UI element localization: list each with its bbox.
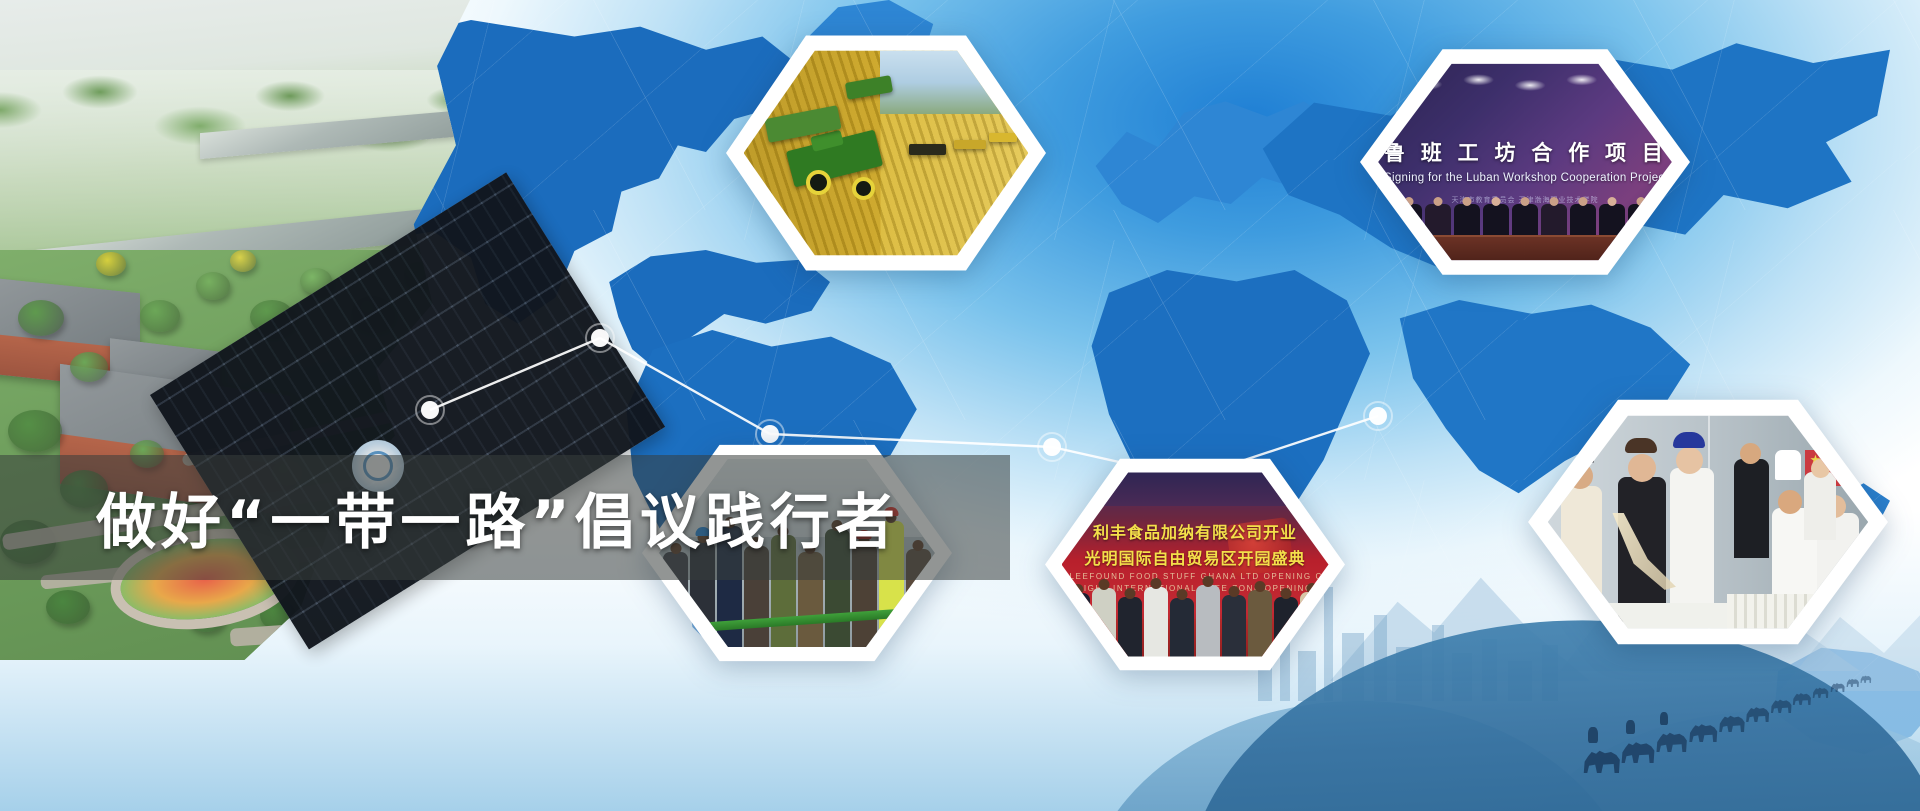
campus-tree: [96, 252, 126, 276]
stage-spotlights: [1396, 66, 1654, 112]
guest: [1300, 592, 1324, 663]
guest: [1196, 585, 1220, 662]
signing-table: [1390, 235, 1660, 266]
campus-tree: [18, 300, 64, 336]
page-title: 做好“一带一路”倡议践行者: [96, 474, 900, 561]
hexagon-white-frame: 利丰食品加纳有限公司开业 光明国际自由贸易区开园盛典 LEEFOUND FOOD…: [1045, 452, 1345, 677]
hexagon-photo-factory-opening[interactable]: 利丰食品加纳有限公司开业 光明国际自由贸易区开园盛典 LEEFOUND FOOD…: [1045, 452, 1345, 677]
hexagon-photo-clip: [1548, 409, 1868, 635]
factory-banner-chinese-line1: 利丰食品加纳有限公司开业: [1070, 519, 1321, 543]
caravan-rider-silhouette: [1660, 712, 1668, 725]
dumpling-tray: [1727, 594, 1868, 635]
caravan-rider-silhouette: [1626, 720, 1635, 734]
guest: [1092, 588, 1116, 662]
guest: [1170, 598, 1194, 662]
campus-tree: [8, 410, 62, 452]
luban-banner-chinese: 鲁 班 工 坊 合 作 项 目 签 约 仪 式: [1384, 137, 1666, 167]
harvester-distant-2: [954, 140, 985, 149]
title-banner: 做好“一带一路”倡议践行者: [0, 455, 1010, 580]
campus-tree: [140, 300, 180, 332]
guest: [1118, 597, 1142, 663]
staff-head: [1740, 443, 1761, 464]
hexagon-photo-harvest[interactable]: [726, 28, 1046, 278]
kitchen-staff: [1734, 459, 1769, 559]
trainee-chef-3: [1804, 472, 1836, 540]
campus-tree: [196, 272, 230, 300]
delegate: [1396, 204, 1422, 246]
hexagon-photo-culinary-exchange[interactable]: [1528, 392, 1888, 652]
banner-stage: 鲁 班 工 坊 合 作 项 目 签 约 仪 式 Signing for the …: [0, 0, 1920, 811]
hexagon-photo-clip: 鲁 班 工 坊 合 作 项 目 签 约 仪 式 Signing for the …: [1378, 58, 1672, 267]
factory-banner-chinese-line2: 光明国际自由贸易区开园盛典: [1070, 545, 1321, 569]
hexagon-photo-clip: [744, 44, 1029, 262]
harvester-distant-3: [989, 133, 1017, 142]
delegate: [1628, 204, 1654, 246]
guest: [1248, 590, 1272, 662]
ceremony-guests: [1062, 580, 1329, 662]
hexagon-photo-clip: 利丰食品加纳有限公司开业 光明国际自由贸易区开园盛典 LEEFOUND FOOD…: [1062, 467, 1329, 663]
flour-worktop: [1599, 603, 1734, 635]
luban-banner-english: Signing for the Luban Workshop Cooperati…: [1384, 172, 1666, 184]
caravan-rider-silhouette: [1588, 727, 1598, 743]
guest: [1144, 587, 1168, 663]
campus-tree: [46, 590, 90, 624]
hexagon-white-frame: [1528, 392, 1888, 652]
guest-head: [1628, 454, 1656, 482]
hexagon-photo-luban-workshop[interactable]: 鲁 班 工 坊 合 作 项 目 签 约 仪 式 Signing for the …: [1360, 42, 1690, 282]
harvester-wheel-right: [852, 177, 875, 200]
trainee-3-head: [1811, 459, 1830, 478]
chef-demonstrator: [1561, 486, 1603, 617]
hexagon-white-frame: [726, 28, 1046, 278]
campus-tree: [230, 250, 256, 272]
chef-cap: [1564, 450, 1594, 463]
guest: [1274, 597, 1298, 663]
guest: [1222, 595, 1246, 662]
blue-chef-cap: [1673, 432, 1705, 448]
toque-hat-icon: [1775, 450, 1801, 480]
trainee-chef: [1670, 468, 1715, 622]
guest-hair: [1625, 438, 1657, 453]
harvester-distant-1: [909, 144, 946, 155]
hexagon-white-frame: 鲁 班 工 坊 合 作 项 目 签 约 仪 式 Signing for the …: [1360, 42, 1690, 282]
campus-tree: [70, 352, 108, 382]
guest: [1066, 593, 1090, 662]
